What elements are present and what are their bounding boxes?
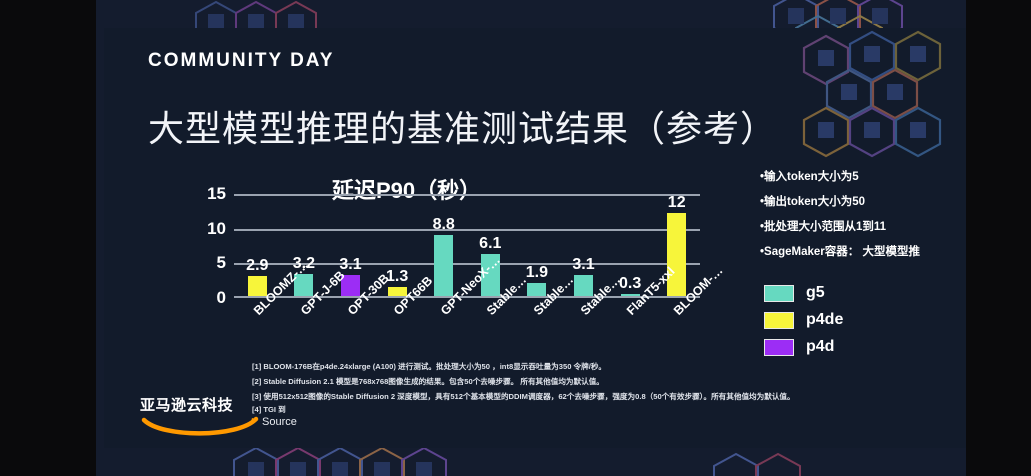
gridline-10 <box>234 229 700 231</box>
note-bullet-4: •SageMaker容器： 大型模型推 <box>760 243 966 259</box>
y-axis-labels: 051015 <box>190 194 226 298</box>
legend-label: g5 <box>806 284 825 302</box>
note-bullet-3: •批处理大小范围从1到11 <box>760 218 966 234</box>
y-axis-tick-5: 5 <box>217 253 226 273</box>
footnote-3: [3] 使用512x512图像的Stable Diffusion 2 深度模型，… <box>252 390 952 405</box>
legend-swatch-icon <box>764 312 794 329</box>
legend-item-p4de[interactable]: p4de <box>764 311 843 329</box>
y-axis-tick-10: 10 <box>207 219 226 239</box>
bar-5[interactable] <box>434 235 453 296</box>
legend-swatch-icon <box>764 285 794 302</box>
page-title: 大型模型推理的基准测试结果（参考） <box>148 100 777 152</box>
bar-value-label: 8.8 <box>433 216 455 234</box>
source-label[interactable]: Source <box>252 416 952 428</box>
footnote-2: [2] Stable Diffusion 2.1 模型是768x768图像生成的… <box>252 375 952 390</box>
presentation-slide: COMMUNITY DAY 大型模型推理的基准测试结果（参考） 延迟P90（秒）… <box>104 28 966 448</box>
gridline-15 <box>234 194 700 196</box>
y-axis-tick-0: 0 <box>217 288 226 308</box>
aws-logo: 亚马逊云科技 <box>140 394 272 438</box>
bar-value-label: 1.9 <box>526 264 548 282</box>
legend-label: p4d <box>806 338 834 356</box>
chart-legend: g5p4dep4d <box>764 284 843 365</box>
note-bullet-2: •输出token大小为50 <box>760 193 966 209</box>
bar-8[interactable] <box>574 275 593 296</box>
slide-hex-decoration-icon <box>786 28 966 174</box>
bar-10[interactable] <box>667 213 686 296</box>
bar-value-label: 2.9 <box>246 257 268 275</box>
bar-value-label: 3.1 <box>339 256 361 274</box>
footnotes-block: [1] BLOOM-176B在p4de.24xlarge (A100) 进行测试… <box>252 360 952 428</box>
y-axis-tick-15: 15 <box>207 184 226 204</box>
bar-fill <box>667 213 686 296</box>
note-bullet-1: •输入token大小为5 <box>760 168 966 184</box>
aws-swoosh-icon <box>140 416 260 438</box>
aws-logo-text: 亚马逊云科技 <box>140 394 272 415</box>
bar-fill <box>434 235 453 296</box>
legend-swatch-icon <box>764 339 794 356</box>
screenshot-stage: COMMUNITY DAY 大型模型推理的基准测试结果（参考） 延迟P90（秒）… <box>0 0 1031 476</box>
legend-item-g5[interactable]: g5 <box>764 284 843 302</box>
bar-fill <box>574 275 593 296</box>
notes-bullet-list: •输入token大小为5•输出token大小为50•批处理大小范围从1到11•S… <box>760 168 966 268</box>
bar-value-label: 6.1 <box>479 235 501 253</box>
legend-item-p4d[interactable]: p4d <box>764 338 843 356</box>
footnote-1: [1] BLOOM-176B在p4de.24xlarge (A100) 进行测试… <box>252 360 952 375</box>
legend-label: p4de <box>806 311 843 329</box>
bar-value-label: 0.3 <box>619 275 641 293</box>
bar-1[interactable] <box>248 276 267 296</box>
bar-value-label: 12 <box>668 194 686 212</box>
bar-value-label: 3.1 <box>572 256 594 274</box>
footnote-4: [4] TGI 到 <box>252 404 952 415</box>
community-day-eyebrow: COMMUNITY DAY <box>148 50 334 72</box>
bar-fill <box>248 276 267 296</box>
